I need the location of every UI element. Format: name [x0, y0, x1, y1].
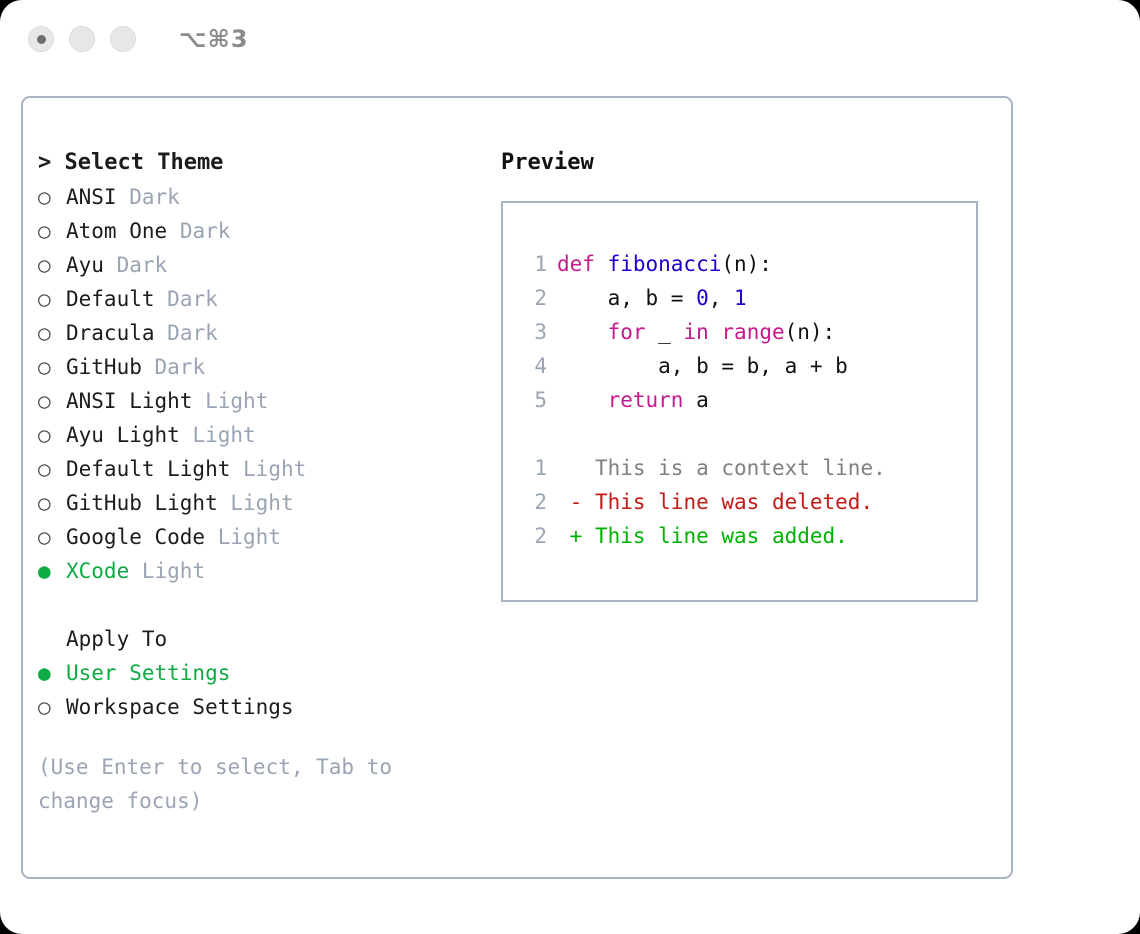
label-separator	[142, 355, 155, 379]
line-number: 2	[521, 519, 547, 553]
line-number: 4	[521, 349, 547, 383]
radio-unselected-icon: ○	[38, 214, 66, 248]
apply-to-option-label: User Settings	[66, 661, 230, 685]
theme-name-label: GitHub	[66, 355, 142, 379]
theme-variant-tag: Dark	[167, 287, 218, 311]
theme-list-item[interactable]: ○GitHub Light Light	[38, 486, 478, 520]
theme-variant-tag: Dark	[129, 185, 180, 209]
apply-to-option[interactable]: ●User Settings	[38, 656, 478, 690]
radio-selected-icon: ●	[38, 554, 66, 588]
theme-variant-tag: Light	[243, 457, 306, 481]
syntax-sample: 1def fibonacci(n):2 a, b = 0, 13 for _ i…	[503, 247, 976, 417]
theme-list-item[interactable]: ●XCode Light	[38, 554, 478, 588]
line-number: 1	[521, 247, 547, 281]
theme-list-item[interactable]: ○Ayu Dark	[38, 248, 478, 282]
line-number: 5	[521, 383, 547, 417]
app-window: ⌥⌘3 > Select Theme ○ANSI Dark○Atom One D…	[0, 0, 1140, 934]
diff-sign: +	[557, 524, 582, 548]
radio-unselected-icon: ○	[38, 486, 66, 520]
diff-text: This line was deleted.	[582, 490, 873, 514]
label-separator	[155, 287, 168, 311]
theme-variant-tag: Dark	[167, 321, 218, 345]
theme-name-label: XCode	[66, 559, 129, 583]
code-token: (n):	[721, 252, 772, 276]
theme-variant-tag: Dark	[117, 253, 168, 277]
main-panel: > Select Theme ○ANSI Dark○Atom One Dark○…	[21, 96, 1013, 879]
select-theme-heading: > Select Theme	[38, 146, 478, 180]
theme-list-item[interactable]: ○Ayu Light Light	[38, 418, 478, 452]
theme-list-item[interactable]: ○Dracula Dark	[38, 316, 478, 350]
code-preview-box: 1def fibonacci(n):2 a, b = 0, 13 for _ i…	[501, 201, 978, 602]
theme-list-item[interactable]: ○Default Light Light	[38, 452, 478, 486]
code-token	[557, 388, 608, 412]
code-token: return	[608, 388, 684, 412]
radio-unselected-icon: ○	[38, 520, 66, 554]
label-separator	[117, 185, 130, 209]
theme-name-label: ANSI Light	[66, 389, 192, 413]
code-token: 0	[696, 286, 709, 310]
theme-name-label: Google Code	[66, 525, 205, 549]
theme-name-label: Ayu	[66, 253, 104, 277]
code-token: def	[557, 252, 608, 276]
diff-line: 2 - This line was deleted.	[503, 485, 976, 519]
code-token: fibonacci	[608, 252, 722, 276]
preview-column: Preview 1def fibonacci(n):2 a, b = 0, 13…	[501, 146, 1001, 602]
keyboard-hint-text: (Use Enter to select, Tab to change focu…	[38, 750, 438, 818]
radio-selected-icon: ●	[38, 656, 66, 690]
code-line: 5 return a	[503, 383, 976, 417]
line-number: 3	[521, 315, 547, 349]
diff-text: This line was added.	[582, 524, 848, 548]
code-token	[709, 320, 722, 344]
code-gap	[503, 417, 976, 451]
apply-to-heading: Apply To	[38, 622, 478, 656]
apply-to-options[interactable]: ●User Settings○Workspace Settings	[38, 656, 478, 724]
label-separator	[129, 559, 142, 583]
active-dot-indicator	[37, 35, 46, 44]
theme-variant-tag: Light	[218, 525, 281, 549]
diff-text: This is a context line.	[582, 456, 885, 480]
window-dot-3[interactable]	[110, 26, 136, 52]
label-separator	[192, 389, 205, 413]
theme-list-item[interactable]: ○GitHub Dark	[38, 350, 478, 384]
apply-to-option-label: Workspace Settings	[66, 695, 294, 719]
theme-variant-tag: Light	[205, 389, 268, 413]
code-token: _	[646, 320, 684, 344]
code-token: a	[683, 388, 708, 412]
diff-line: 1 This is a context line.	[503, 451, 976, 485]
code-line: 2 a, b = 0, 1	[503, 281, 976, 315]
radio-unselected-icon: ○	[38, 180, 66, 214]
theme-name-label: Default	[66, 287, 155, 311]
label-separator	[230, 457, 243, 481]
code-line: 4 a, b = b, a + b	[503, 349, 976, 383]
diff-sign	[557, 456, 582, 480]
theme-list-item[interactable]: ○ANSI Dark	[38, 180, 478, 214]
code-token: a, b = b, a + b	[557, 354, 848, 378]
code-token: for	[608, 320, 646, 344]
theme-variant-tag: Dark	[155, 355, 206, 379]
keyboard-shortcut-label: ⌥⌘3	[179, 25, 249, 53]
window-dot-1[interactable]	[28, 26, 54, 52]
theme-name-label: Dracula	[66, 321, 155, 345]
code-token: ,	[709, 286, 734, 310]
apply-to-option[interactable]: ○Workspace Settings	[38, 690, 478, 724]
window-dot-2[interactable]	[69, 26, 95, 52]
radio-unselected-icon: ○	[38, 350, 66, 384]
radio-unselected-icon: ○	[38, 384, 66, 418]
code-token: 1	[734, 286, 747, 310]
code-token: a, b =	[557, 286, 696, 310]
label-separator	[167, 219, 180, 243]
label-separator	[205, 525, 218, 549]
apply-to-label: Apply To	[66, 627, 167, 651]
theme-name-label: Default Light	[66, 457, 230, 481]
code-token: range	[721, 320, 784, 344]
theme-list-item[interactable]: ○Google Code Light	[38, 520, 478, 554]
theme-variant-tag: Light	[230, 491, 293, 515]
diff-sample: 1 This is a context line.2 - This line w…	[503, 451, 976, 553]
theme-selection-column: > Select Theme ○ANSI Dark○Atom One Dark○…	[38, 146, 478, 818]
theme-name-label: ANSI	[66, 185, 117, 209]
label-separator	[218, 491, 231, 515]
label-separator	[180, 423, 193, 447]
theme-variant-tag: Dark	[180, 219, 231, 243]
radio-unselected-icon: ○	[38, 248, 66, 282]
radio-unselected-icon: ○	[38, 282, 66, 316]
label-separator	[155, 321, 168, 345]
radio-unselected-icon: ○	[38, 690, 66, 724]
theme-variant-tag: Light	[142, 559, 205, 583]
radio-unselected-icon: ○	[38, 452, 66, 486]
theme-variant-tag: Light	[192, 423, 255, 447]
theme-list-item[interactable]: ○Atom One Dark	[38, 214, 478, 248]
label-separator	[104, 253, 117, 277]
radio-unselected-icon: ○	[38, 316, 66, 350]
code-line: 3 for _ in range(n):	[503, 315, 976, 349]
code-line: 1def fibonacci(n):	[503, 247, 976, 281]
list-spacer	[38, 588, 478, 622]
line-number: 2	[521, 281, 547, 315]
radio-unselected-icon: ○	[38, 418, 66, 452]
theme-name-label: Ayu Light	[66, 423, 180, 447]
apply-to-indent	[38, 622, 66, 656]
preview-heading: Preview	[501, 146, 1001, 180]
theme-name-label: Atom One	[66, 219, 167, 243]
code-token: (n):	[785, 320, 836, 344]
line-number: 2	[521, 485, 547, 519]
theme-name-label: GitHub Light	[66, 491, 218, 515]
theme-list-item[interactable]: ○Default Dark	[38, 282, 478, 316]
title-bar: ⌥⌘3	[0, 0, 1140, 78]
theme-list[interactable]: ○ANSI Dark○Atom One Dark○Ayu Dark○Defaul…	[38, 180, 478, 588]
code-token	[557, 320, 608, 344]
line-number: 1	[521, 451, 547, 485]
diff-line: 2 + This line was added.	[503, 519, 976, 553]
code-token: in	[683, 320, 708, 344]
theme-list-item[interactable]: ○ANSI Light Light	[38, 384, 478, 418]
diff-sign: -	[557, 490, 582, 514]
